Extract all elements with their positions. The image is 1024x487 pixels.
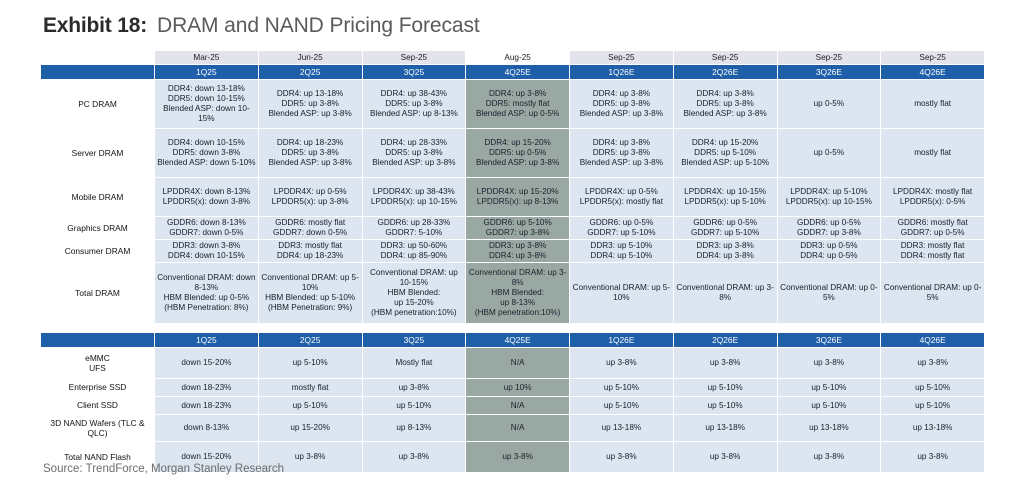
pricing-forecast-table: Mar-25Jun-25Sep-25Aug-25Sep-25Sep-25Sep-… [40, 50, 985, 473]
cell: DDR4: up 15-20% DDR5: up 5-10% Blended A… [673, 129, 777, 178]
cell: LPDDR4X: up 0-5% LPDDR5(x): mostly flat [570, 178, 674, 217]
quarter-header-1q25: 1Q25 [155, 65, 259, 80]
month-header-2q26e: Sep-25 [673, 51, 777, 65]
quarter-header-1q26e: 1Q26E [570, 65, 674, 80]
cell: Mostly flat [362, 348, 466, 379]
month-header-4q25e: Aug-25 [466, 51, 570, 65]
cell: up 5-10% [673, 379, 777, 397]
quarter-header-3q26e: 3Q26E [777, 65, 881, 80]
row-label-total-dram: Total DRAM [41, 263, 155, 324]
cell: up 5-10% [673, 397, 777, 415]
cell: up 8-13% [362, 415, 466, 442]
cell: up 13-18% [881, 415, 985, 442]
cell: LPDDR4X: up 5-10% LPDDR5(x): up 10-15% [777, 178, 881, 217]
quarter-header-2q25: 2Q25 [258, 65, 362, 80]
cell: mostly flat [258, 379, 362, 397]
month-header-spacer [41, 51, 155, 65]
cell: DDR4: up 3-8% DDR5: up 3-8% Blended ASP:… [570, 80, 674, 129]
cell: up 5-10% [362, 397, 466, 415]
quarter-header-row: 1Q252Q253Q254Q25E1Q26E2Q26E3Q26E4Q26E [41, 65, 985, 80]
quarter-header-2q26e: 2Q26E [673, 65, 777, 80]
cell: up 0-5% [777, 129, 881, 178]
row-label-pc-dram: PC DRAM [41, 80, 155, 129]
cell: up 3-8% [673, 348, 777, 379]
cell: up 3-8% [570, 442, 674, 473]
cell: up 5-10% [777, 379, 881, 397]
row-label-mobile-dram: Mobile DRAM [41, 178, 155, 217]
cell: DDR4: up 28-33% DDR5: up 3-8% Blended AS… [362, 129, 466, 178]
nand-quarter-header-1q26e: 1Q26E [570, 333, 674, 348]
month-header-4q26e: Sep-25 [881, 51, 985, 65]
row-label-enterprise-ssd: Enterprise SSD [41, 379, 155, 397]
nand-quarter-header-4q26e: 4Q26E [881, 333, 985, 348]
cell: up 13-18% [570, 415, 674, 442]
nand-quarter-header-4q25e: 4Q25E [466, 333, 570, 348]
cell: DDR3: up 5-10% DDR4: up 5-10% [570, 240, 674, 263]
nand-quarter-header-row: 1Q252Q253Q254Q25E1Q26E2Q26E3Q26E4Q26E [41, 333, 985, 348]
cell: GDDR6: mostly flat GDDR7: down 0-5% [258, 217, 362, 240]
table-body: Mar-25Jun-25Sep-25Aug-25Sep-25Sep-25Sep-… [41, 51, 985, 473]
cell: LPDDR4X: up 0-5% LPDDR5(x): up 3-8% [258, 178, 362, 217]
row-label-emmc-ufs: eMMC UFS [41, 348, 155, 379]
table-row: Total DRAMConventional DRAM: down 8-13% … [41, 263, 985, 324]
cell: DDR3: up 0-5% DDR4: up 0-5% [777, 240, 881, 263]
table-row: Graphics DRAMGDDR6: down 8-13% GDDR7: do… [41, 217, 985, 240]
nand-quarter-header-spacer [41, 333, 155, 348]
exhibit-page: Exhibit 18: DRAM and NAND Pricing Foreca… [0, 0, 1024, 487]
nand-quarter-header-2q25: 2Q25 [258, 333, 362, 348]
cell: GDDR6: up 0-5% GDDR7: up 5-10% [673, 217, 777, 240]
cell: up 3-8% [881, 442, 985, 473]
cell: DDR4: up 3-8% DDR5: up 3-8% Blended ASP:… [570, 129, 674, 178]
cell: GDDR6: mostly flat GDDR7: up 0-5% [881, 217, 985, 240]
cell: Conventional DRAM: up 3-8% HBM Blended: … [466, 263, 570, 324]
cell: DDR4: down 10-15% DDR5: down 3-8% Blende… [155, 129, 259, 178]
cell: up 5-10% [258, 397, 362, 415]
cell: up 3-8% [362, 379, 466, 397]
cell: Conventional DRAM: up 5-10% [570, 263, 674, 324]
cell: LPDDR4X: up 38-43% LPDDR5(x): up 10-15% [362, 178, 466, 217]
nand-quarter-header-3q26e: 3Q26E [777, 333, 881, 348]
cell: LPDDR4X: up 15-20% LPDDR5(x): up 8-13% [466, 178, 570, 217]
cell: up 10% [466, 379, 570, 397]
cell: up 5-10% [881, 379, 985, 397]
cell: DDR3: mostly flat DDR4: up 18-23% [258, 240, 362, 263]
cell: Conventional DRAM: up 10-15% HBM Blended… [362, 263, 466, 324]
cell: GDDR6: up 28-33% GDDR7: 5-10% [362, 217, 466, 240]
nand-quarter-header-2q26e: 2Q26E [673, 333, 777, 348]
cell: N/A [466, 348, 570, 379]
cell: DDR3: up 50-60% DDR4: up 85-90% [362, 240, 466, 263]
cell: Conventional DRAM: down 8-13% HBM Blende… [155, 263, 259, 324]
cell: N/A [466, 415, 570, 442]
page-title: Exhibit 18: DRAM and NAND Pricing Foreca… [40, 0, 984, 50]
table-row: Enterprise SSDdown 18-23%mostly flatup 3… [41, 379, 985, 397]
cell: up 15-20% [258, 415, 362, 442]
row-label-server-dram: Server DRAM [41, 129, 155, 178]
cell: up 3-8% [673, 442, 777, 473]
cell: up 13-18% [777, 415, 881, 442]
cell: Conventional DRAM: up 5-10% HBM Blended:… [258, 263, 362, 324]
cell: DDR3: mostly flat DDR4: mostly flat [881, 240, 985, 263]
cell: DDR4: up 3-8% DDR5: mostly flat Blended … [466, 80, 570, 129]
cell: up 3-8% [777, 442, 881, 473]
cell: up 3-8% [570, 348, 674, 379]
cell: DDR4: up 15-20% DDR5: up 0-5% Blended AS… [466, 129, 570, 178]
cell: down 8-13% [155, 415, 259, 442]
cell: up 13-18% [673, 415, 777, 442]
cell: up 3-8% [466, 442, 570, 473]
table-row: Server DRAMDDR4: down 10-15% DDR5: down … [41, 129, 985, 178]
row-label-consumer-dram: Consumer DRAM [41, 240, 155, 263]
exhibit-number-label: Exhibit 18: [43, 14, 147, 38]
cell: up 3-8% [362, 442, 466, 473]
section-spacer-cell [41, 324, 985, 333]
cell: up 5-10% [777, 397, 881, 415]
month-header-1q26e: Sep-25 [570, 51, 674, 65]
cell: down 18-23% [155, 397, 259, 415]
cell: Conventional DRAM: up 0-5% [881, 263, 985, 324]
table-row: eMMC UFSdown 15-20%up 5-10%Mostly flatN/… [41, 348, 985, 379]
cell: LPDDR4X: down 8-13% LPDDR5(x): down 3-8% [155, 178, 259, 217]
nand-quarter-header-1q25: 1Q25 [155, 333, 259, 348]
cell: DDR4: up 3-8% DDR5: up 3-8% Blended ASP:… [673, 80, 777, 129]
table-row: PC DRAMDDR4: down 13-18% DDR5: down 10-1… [41, 80, 985, 129]
cell: GDDR6: up 0-5% GDDR7: up 3-8% [777, 217, 881, 240]
cell: DDR3: up 3-8% DDR4: up 3-8% [673, 240, 777, 263]
cell: N/A [466, 397, 570, 415]
quarter-header-4q26e: 4Q26E [881, 65, 985, 80]
cell: up 5-10% [570, 379, 674, 397]
cell: Conventional DRAM: up 3-8% [673, 263, 777, 324]
table-row: Client SSDdown 18-23%up 5-10%up 5-10%N/A… [41, 397, 985, 415]
month-header-row: Mar-25Jun-25Sep-25Aug-25Sep-25Sep-25Sep-… [41, 51, 985, 65]
quarter-header-4q25e: 4Q25E [466, 65, 570, 80]
cell: Conventional DRAM: up 0-5% [777, 263, 881, 324]
cell: DDR3: up 3-8% DDR4: up 3-8% [466, 240, 570, 263]
cell: up 5-10% [258, 348, 362, 379]
quarter-header-3q25: 3Q25 [362, 65, 466, 80]
cell: DDR4: down 13-18% DDR5: down 10-15% Blen… [155, 80, 259, 129]
cell: LPDDR4X: up 10-15% LPDDR5(x): up 5-10% [673, 178, 777, 217]
cell: down 15-20% [155, 348, 259, 379]
cell: LPDDR4X: mostly flat LPDDR5(x): 0-5% [881, 178, 985, 217]
cell: up 0-5% [777, 80, 881, 129]
table-row: Mobile DRAMLPDDR4X: down 8-13% LPDDR5(x)… [41, 178, 985, 217]
month-header-2q25: Jun-25 [258, 51, 362, 65]
source-note: Source: TrendForce, Morgan Stanley Resea… [43, 463, 284, 475]
cell: DDR3: down 3-8% DDR4: down 10-15% [155, 240, 259, 263]
month-header-1q25: Mar-25 [155, 51, 259, 65]
cell: DDR4: up 38-43% DDR5: up 3-8% Blended AS… [362, 80, 466, 129]
cell: up 3-8% [777, 348, 881, 379]
row-label-client-ssd: Client SSD [41, 397, 155, 415]
row-label-graphics-dram: Graphics DRAM [41, 217, 155, 240]
cell: GDDR6: down 8-13% GDDR7: down 0-5% [155, 217, 259, 240]
row-label-3d-nand-wafers-tlc-qlc-: 3D NAND Wafers (TLC & QLC) [41, 415, 155, 442]
section-spacer [41, 324, 985, 333]
month-header-3q25: Sep-25 [362, 51, 466, 65]
cell: GDDR6: up 0-5% GDDR7: up 5-10% [570, 217, 674, 240]
table-row: 3D NAND Wafers (TLC & QLC)down 8-13%up 1… [41, 415, 985, 442]
cell: GDDR6: up 5-10% GDDR7: up 3-8% [466, 217, 570, 240]
nand-quarter-header-3q25: 3Q25 [362, 333, 466, 348]
cell: DDR4: up 18-23% DDR5: up 3-8% Blended AS… [258, 129, 362, 178]
cell: mostly flat [881, 129, 985, 178]
cell: DDR4: up 13-18% DDR5: up 3-8% Blended AS… [258, 80, 362, 129]
cell: down 18-23% [155, 379, 259, 397]
table-row: Consumer DRAMDDR3: down 3-8% DDR4: down … [41, 240, 985, 263]
cell: up 5-10% [570, 397, 674, 415]
month-header-3q26e: Sep-25 [777, 51, 881, 65]
cell: up 3-8% [881, 348, 985, 379]
cell: mostly flat [881, 80, 985, 129]
exhibit-title-text: DRAM and NAND Pricing Forecast [157, 14, 480, 38]
quarter-header-spacer [41, 65, 155, 80]
cell: up 5-10% [881, 397, 985, 415]
